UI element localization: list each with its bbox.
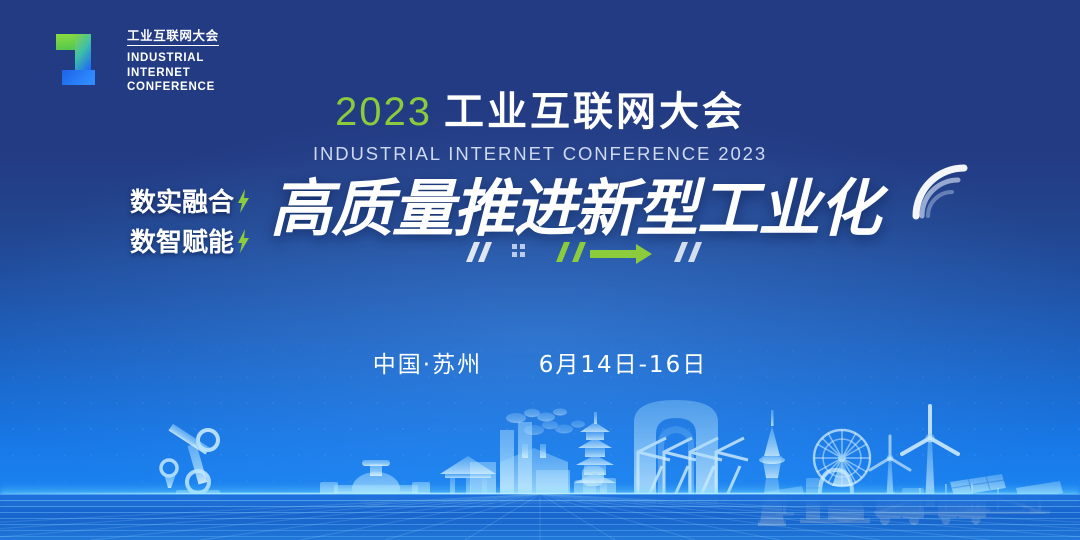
- conference-poster: 工业互联网大会 INDUSTRIAL INTERNET CONFERENCE 2…: [0, 0, 1080, 540]
- perspective-ground: [0, 488, 1080, 540]
- page-title: 2023工业互联网大会: [0, 92, 1080, 132]
- brand-logo-text: 工业互联网大会 INDUSTRIAL INTERNET CONFERENCE: [127, 28, 219, 94]
- title-cn: 工业互联网大会: [444, 89, 745, 135]
- slogan-left-line-1: 数实融合: [130, 182, 234, 219]
- logo-en-line-1: INDUSTRIAL: [127, 53, 219, 65]
- slogan-left-line-2: 数智赋能: [130, 222, 234, 259]
- wireless-signal-icon: [906, 158, 978, 224]
- page-title-block: 2023工业互联网大会 INDUSTRIAL INTERNET CONFEREN…: [0, 92, 1080, 165]
- logo-cn-name: 工业互联网大会: [127, 30, 219, 46]
- slogan-block: 数实融合 数智赋能 高质量推进新型工业化: [0, 176, 1080, 281]
- event-dates: 6月14日-16日: [539, 352, 707, 378]
- event-location: 中国·苏州: [373, 352, 482, 378]
- slogan-secondary: 数实融合 数智赋能: [130, 182, 249, 259]
- brand-logo[interactable]: 工业互联网大会 INDUSTRIAL INTERNET CONFERENCE: [54, 28, 219, 94]
- event-info: 中国·苏州 6月14日-16日: [0, 345, 1080, 379]
- lightning-bolt-icon: [238, 189, 249, 213]
- perspective-grid-rays: [0, 494, 1080, 540]
- title-year: 2023: [335, 90, 432, 134]
- lightning-bolt-icon: [238, 229, 249, 253]
- industrial-internet-conference-logo-icon: [54, 30, 114, 92]
- slogan-main: 高质量推进新型工业化: [270, 176, 880, 241]
- logo-en-line-2: INTERNET: [127, 68, 219, 80]
